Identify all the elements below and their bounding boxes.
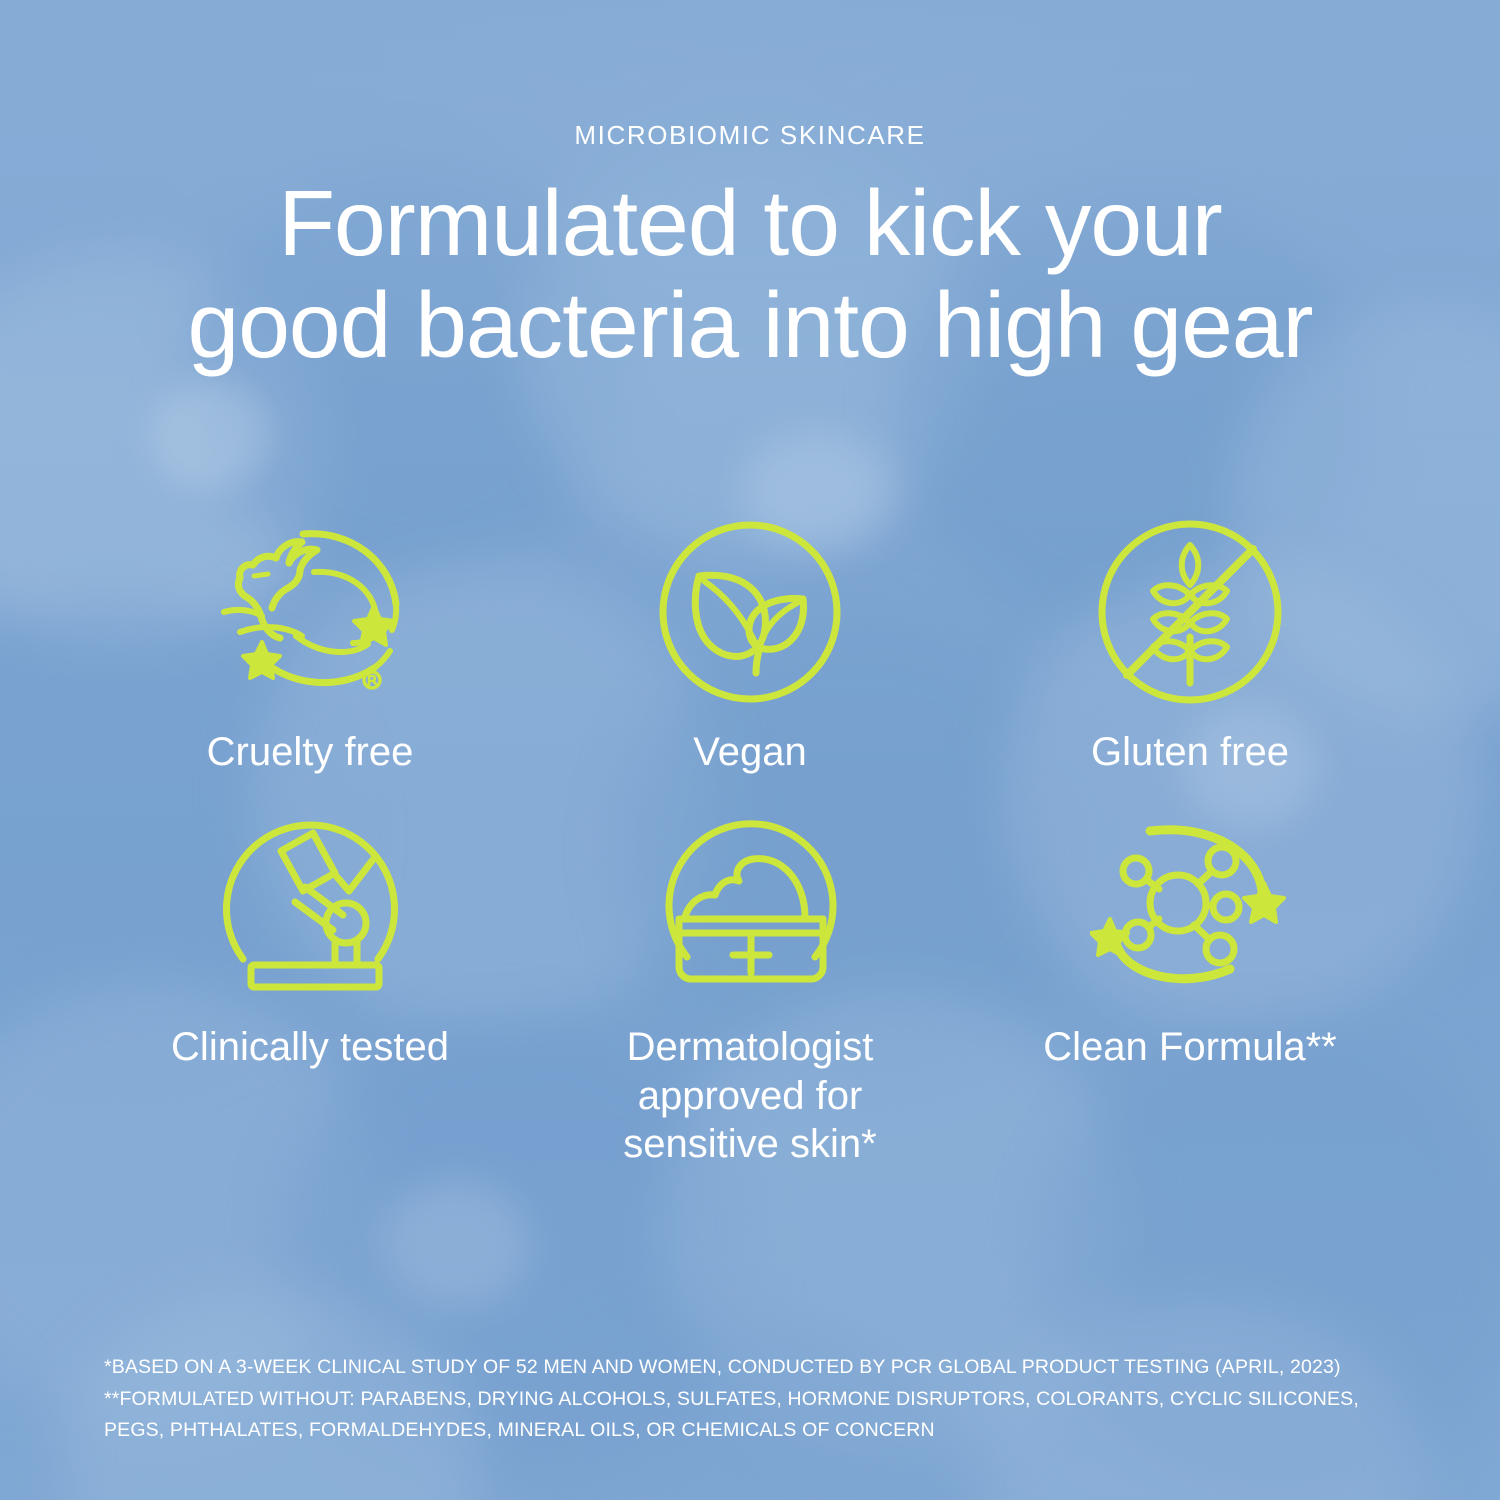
claim-label: Clinically tested xyxy=(171,1023,449,1072)
footnotes: *BASED ON A 3-WEEK CLINICAL STUDY OF 52 … xyxy=(104,1352,1410,1447)
crossed-out-wheat-gluten-free-icon xyxy=(1090,512,1290,712)
claims-grid: Cruelty free Vegan xyxy=(90,512,1410,1169)
headline-line-2: good bacteria into high gear xyxy=(60,274,1440,376)
molecule-with-stars-icon xyxy=(1090,797,1290,1007)
footnote-line-2: **FORMULATED WITHOUT: PARABENS, DRYING A… xyxy=(104,1384,1410,1416)
claim-label: Dermatologist approved for sensitive ski… xyxy=(585,1023,915,1169)
claim-dermatologist-approved: Dermatologist approved for sensitive ski… xyxy=(530,797,970,1169)
claim-gluten-free: Gluten free xyxy=(970,512,1410,777)
claim-clinically-tested: Clinically tested xyxy=(90,797,530,1169)
claim-cruelty-free: Cruelty free xyxy=(90,512,530,777)
claim-label: Gluten free xyxy=(1091,728,1289,777)
claim-label: Clean Formula** xyxy=(1043,1023,1336,1072)
microscope-with-checkmark-icon xyxy=(210,797,410,1007)
two-leaves-vegan-icon xyxy=(650,512,850,712)
promo-image: MICROBIOMIC SKINCARE Formulated to kick … xyxy=(0,0,1500,1500)
footnote-line-3: PEGS, PHTHALATES, FORMALDEHYDES, MINERAL… xyxy=(104,1415,1410,1447)
claim-clean-formula: Clean Formula** xyxy=(970,797,1410,1169)
footnote-line-1: *BASED ON A 3-WEEK CLINICAL STUDY OF 52 … xyxy=(104,1352,1410,1384)
leaping-bunny-cruelty-free-icon xyxy=(210,512,410,712)
claim-vegan: Vegan xyxy=(530,512,970,777)
eyebrow-text: MICROBIOMIC SKINCARE xyxy=(0,120,1500,151)
claim-label: Vegan xyxy=(693,728,806,777)
claim-label: Cruelty free xyxy=(207,728,414,777)
cream-jar-with-plus-icon xyxy=(650,797,850,1007)
headline-line-1: Formulated to kick your xyxy=(278,171,1222,275)
page-title: Formulated to kick your good bacteria in… xyxy=(60,172,1440,377)
